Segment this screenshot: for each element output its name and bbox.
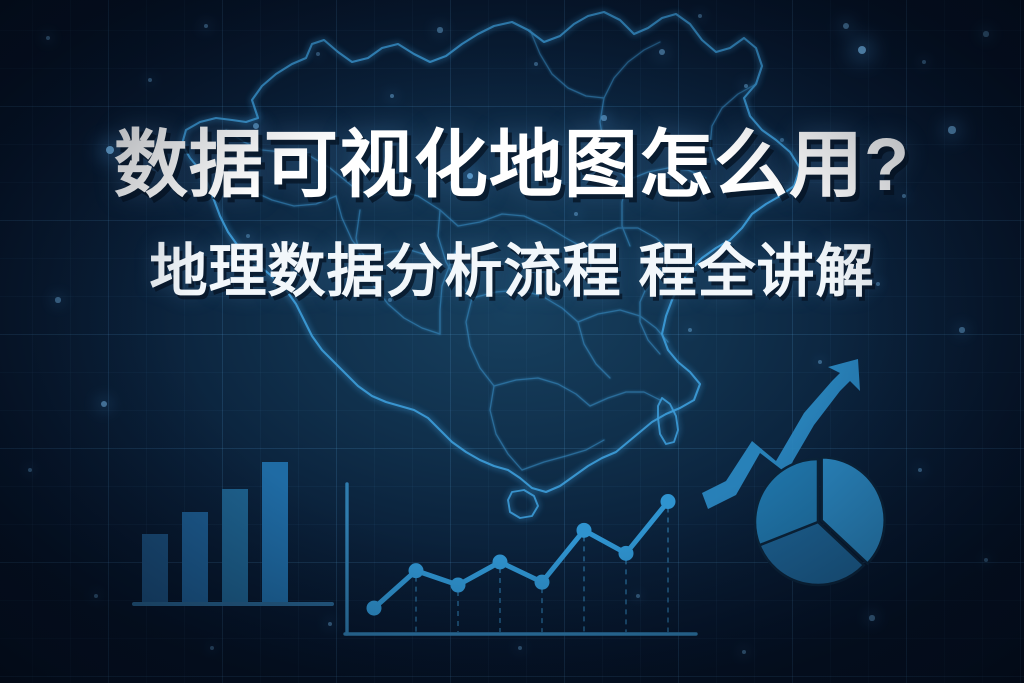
line-chart	[330, 460, 716, 656]
pie-slice	[755, 459, 818, 545]
line-chart-point	[577, 523, 592, 538]
bar-chart-bar	[222, 489, 248, 602]
glow-particle	[574, 212, 579, 217]
glow-particle	[210, 646, 214, 650]
pie-chart-group	[700, 355, 930, 605]
glow-particle	[659, 49, 665, 55]
glow-particle	[204, 24, 209, 29]
glow-particle	[742, 650, 747, 655]
glow-particle	[922, 60, 926, 64]
line-chart-point	[367, 601, 382, 616]
glow-particle	[858, 46, 866, 54]
line-chart-point	[661, 494, 676, 509]
glow-particle	[518, 646, 522, 650]
line-chart-point	[451, 578, 466, 593]
glow-particle	[94, 594, 98, 598]
glow-particle	[636, 594, 640, 598]
glow-particle	[959, 327, 964, 332]
bar-series	[142, 462, 288, 602]
glow-particle	[869, 615, 874, 620]
line-chart-series	[374, 502, 668, 609]
glow-particle	[390, 94, 395, 99]
glow-particle	[437, 27, 442, 32]
line-chart-point	[535, 575, 550, 590]
vignette-overlay	[0, 0, 1024, 683]
bar-chart-baseline	[132, 602, 334, 606]
glow-particle	[28, 468, 32, 472]
glow-particle	[843, 23, 849, 29]
glow-particle	[101, 401, 107, 407]
poster-canvas: 数据可视化地图怎么用? 地理数据分析流程 程全讲解	[0, 0, 1024, 683]
glow-particle	[46, 36, 50, 40]
line-chart-droplines	[416, 508, 668, 632]
glow-particle	[688, 328, 692, 332]
bar-chart-bar	[182, 512, 208, 602]
glow-particle	[316, 52, 320, 56]
glow-particle	[148, 78, 152, 82]
pie-series	[755, 457, 885, 585]
glow-particle	[744, 84, 749, 89]
line-chart-point	[409, 563, 424, 578]
bar-chart-bar	[262, 462, 288, 602]
glow-particle	[534, 62, 538, 66]
line-chart-point	[493, 555, 508, 570]
bar-chart-bar	[142, 534, 168, 602]
pie-slice	[822, 457, 885, 563]
glow-particle	[818, 360, 822, 364]
glow-particle	[246, 234, 250, 238]
line-chart-point	[619, 546, 634, 561]
pie-slice	[759, 522, 864, 585]
line-chart-points	[367, 494, 676, 616]
glow-particle	[601, 115, 606, 120]
background-grid	[0, 0, 1024, 683]
page-subtitle: 地理数据分析流程 程全讲解	[0, 243, 1024, 301]
china-map-outline	[0, 0, 1024, 683]
glow-particle	[983, 31, 988, 36]
growth-arrow-icon	[702, 359, 860, 509]
page-title: 数据可视化地图怎么用?	[0, 128, 1024, 202]
bar-chart	[118, 430, 348, 630]
glow-particle	[984, 558, 988, 562]
glow-particle	[328, 622, 333, 627]
glow-particle	[698, 14, 702, 18]
glow-particle	[918, 468, 923, 473]
